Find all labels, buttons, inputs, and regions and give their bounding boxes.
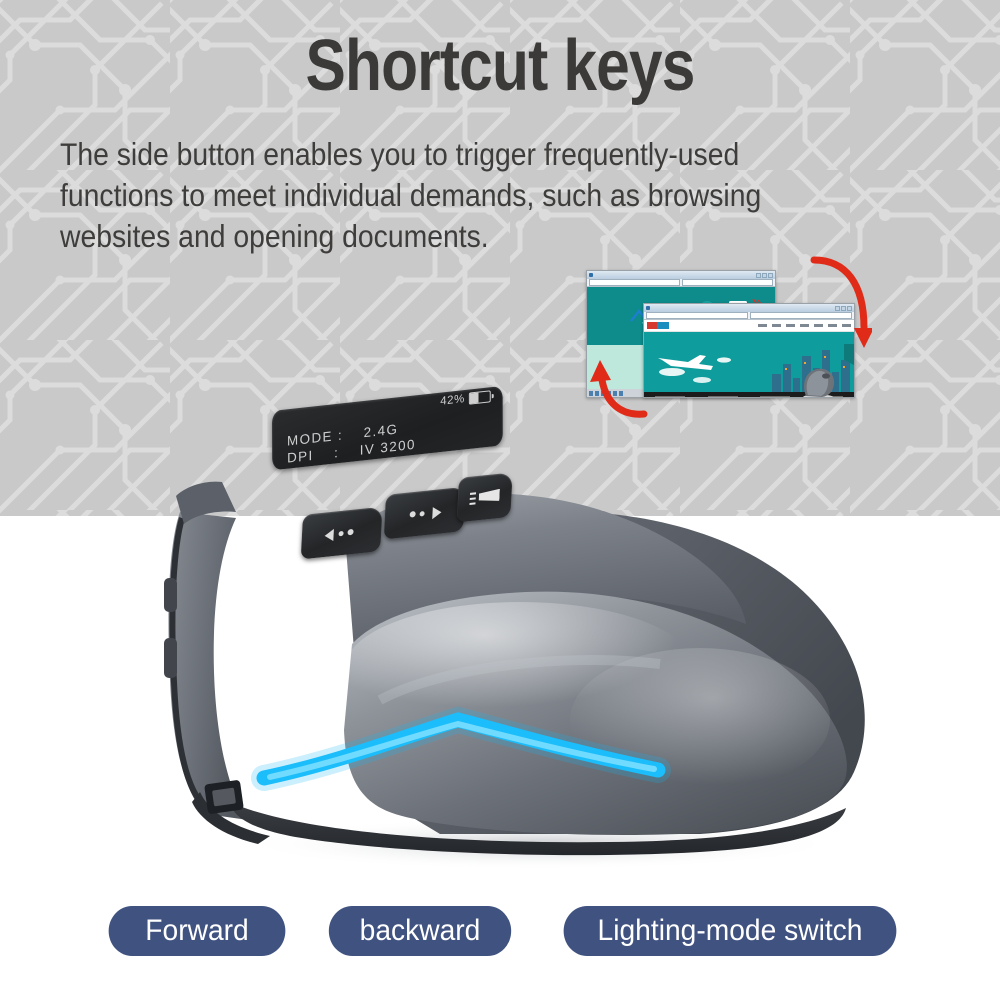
side-button-upper <box>164 578 177 612</box>
url-field[interactable] <box>589 279 680 286</box>
window-titlebar <box>587 271 775 279</box>
label-forward[interactable]: Forward <box>109 906 286 956</box>
browser-windows-screenshot: 4 5 活動資訊 <box>586 258 858 410</box>
side-button-lower <box>164 638 177 678</box>
mouse-side-panel <box>164 482 248 820</box>
dpi-label: DPI <box>287 448 314 466</box>
red-arrow-top-right <box>810 252 872 362</box>
arrow-left-dots-icon <box>324 524 359 542</box>
forward-key[interactable] <box>384 487 466 540</box>
address-bar[interactable] <box>587 279 775 287</box>
battery-indicator: 42% <box>440 390 491 408</box>
vertical-mouse-product <box>140 400 880 870</box>
window-controls[interactable] <box>756 273 773 278</box>
dots-arrow-right-icon <box>407 504 442 522</box>
vertical-mouse-thumbnail <box>796 366 840 397</box>
feature-labels: Forward backward Lighting-mode switch <box>0 906 1000 968</box>
usb-port <box>204 780 244 815</box>
mode-value: 2.4G <box>364 421 399 440</box>
dpi-separator: : <box>334 445 339 461</box>
battery-percent: 42% <box>440 393 465 408</box>
page-title: Shortcut keys <box>80 28 920 104</box>
search-field[interactable] <box>682 279 773 286</box>
label-lighting-mode-switch[interactable]: Lighting-mode switch <box>564 906 897 956</box>
page-description: The side button enables you to trigger f… <box>60 134 861 257</box>
window-icon <box>589 273 593 277</box>
lighting-mode-key[interactable] <box>457 472 513 522</box>
product-banner: Shortcut keys The side button enables yo… <box>0 0 1000 1000</box>
battery-icon <box>469 390 491 404</box>
flashlight-icon <box>469 488 500 507</box>
label-backward[interactable]: backward <box>329 906 511 956</box>
site-logo <box>647 322 669 329</box>
window-icon <box>646 306 650 310</box>
backward-key[interactable] <box>301 507 383 560</box>
url-field[interactable] <box>646 312 748 319</box>
dpi-value: IV 3200 <box>360 437 416 458</box>
